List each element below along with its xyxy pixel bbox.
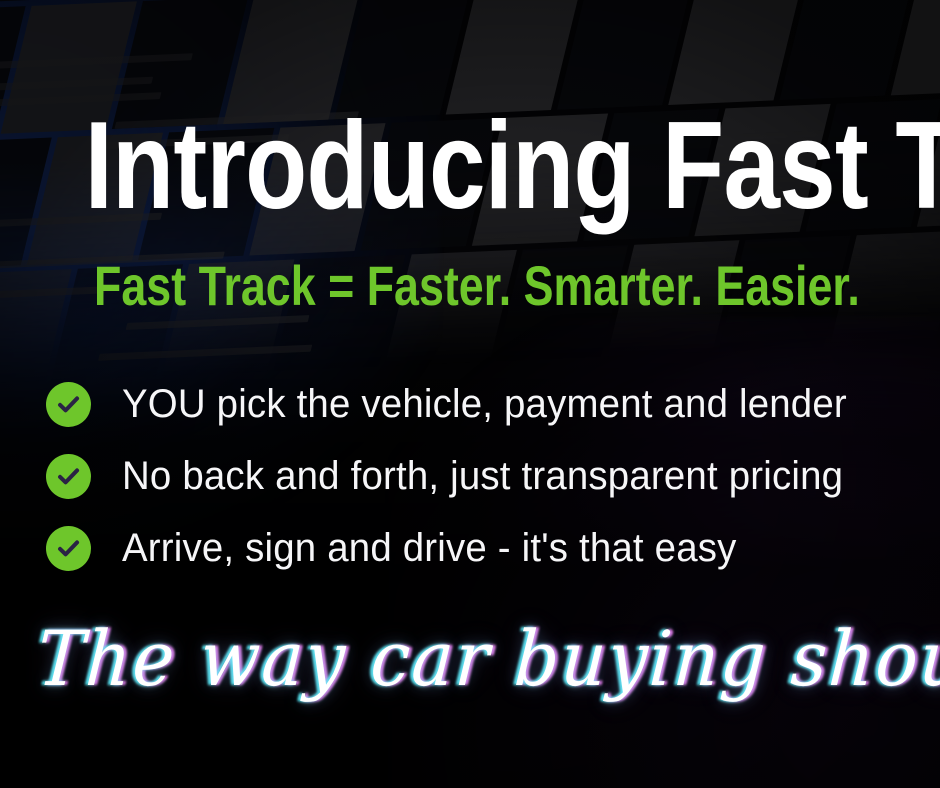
- tagline-text: The way car buying should be.: [34, 608, 905, 711]
- benefit-text: YOU pick the vehicle, payment and lender: [122, 383, 847, 425]
- check-circle-icon: [46, 454, 91, 499]
- page-title: Introducing Fast Track: [85, 104, 856, 228]
- list-item: No back and forth, just transparent pric…: [46, 448, 906, 504]
- benefit-list: YOU pick the vehicle, payment and lender…: [46, 376, 906, 592]
- list-item: YOU pick the vehicle, payment and lender: [46, 376, 906, 432]
- check-circle-icon: [46, 526, 91, 571]
- benefit-text: No back and forth, just transparent pric…: [122, 455, 843, 497]
- list-item: Arrive, sign and drive - it's that easy: [46, 520, 906, 576]
- subtitle: Fast Track = Faster. Smarter. Easier.: [94, 258, 846, 314]
- fast-track-promo-graphic: Introducing Fast Track Fast Track = Fast…: [0, 0, 940, 788]
- benefit-text: Arrive, sign and drive - it's that easy: [122, 527, 737, 569]
- check-circle-icon: [46, 382, 91, 427]
- tagline: The way car buying should be. The way ca…: [0, 608, 940, 728]
